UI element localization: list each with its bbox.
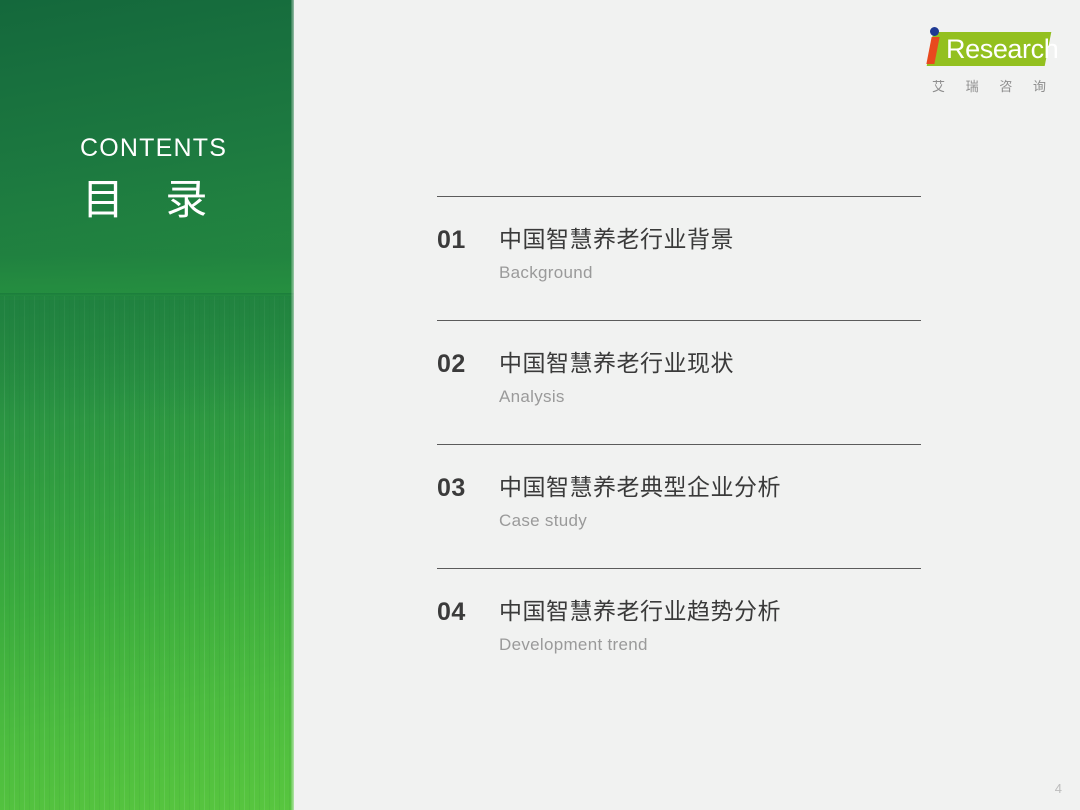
toc-number-02: 02 <box>437 349 499 379</box>
toc-title-english-03: Case study <box>499 510 921 532</box>
slide-root: CONTENTS 目 录 Research 艾 瑞 咨 询 01 中国智慧养老行… <box>0 0 1080 810</box>
left-green-panel: CONTENTS 目 录 <box>0 0 294 810</box>
logo-i-dot-icon <box>930 27 939 36</box>
toc-title-chinese-04: 中国智慧养老行业趋势分析 <box>499 597 921 628</box>
toc-text-block-01: 中国智慧养老行业背景 Background <box>499 225 921 284</box>
page-number: 4 <box>1055 781 1062 796</box>
logo-mark: Research <box>924 26 1052 72</box>
toc-title-english-04: Development trend <box>499 634 921 656</box>
toc-text-block-04: 中国智慧养老行业趋势分析 Development trend <box>499 597 921 656</box>
logo-cn-char-4: 询 <box>1033 76 1046 95</box>
logo-cn-char-3: 咨 <box>999 76 1012 95</box>
toc-text-block-02: 中国智慧养老行业现状 Analysis <box>499 349 921 408</box>
toc-text-block-03: 中国智慧养老典型企业分析 Case study <box>499 473 921 532</box>
toc-item-02[interactable]: 02 中国智慧养老行业现状 Analysis <box>437 320 921 444</box>
contents-title-chinese: 目 录 <box>82 179 227 221</box>
toc-item-01[interactable]: 01 中国智慧养老行业背景 Background <box>437 196 921 320</box>
panel-bottom-fade-overlay <box>0 296 294 416</box>
toc-number-04: 04 <box>437 597 499 627</box>
toc-item-03[interactable]: 03 中国智慧养老典型企业分析 Case study <box>437 444 921 568</box>
toc-number-01: 01 <box>437 225 499 255</box>
logo-cn-char-2: 瑞 <box>966 76 979 95</box>
table-of-contents: 01 中国智慧养老行业背景 Background 02 中国智慧养老行业现状 A… <box>437 196 921 672</box>
logo-cn-char-1: 艾 <box>932 76 945 95</box>
iresearch-logo: Research 艾 瑞 咨 询 <box>924 26 1052 95</box>
toc-title-english-01: Background <box>499 262 921 284</box>
toc-number-03: 03 <box>437 473 499 503</box>
toc-title-chinese-01: 中国智慧养老行业背景 <box>499 225 921 256</box>
contents-title-english: CONTENTS <box>80 136 227 161</box>
contents-title-block: CONTENTS 目 录 <box>80 136 227 221</box>
toc-title-english-02: Analysis <box>499 386 921 408</box>
logo-wordmark: Research <box>946 33 1058 65</box>
toc-item-04[interactable]: 04 中国智慧养老行业趋势分析 Development trend <box>437 568 921 672</box>
toc-title-chinese-03: 中国智慧养老典型企业分析 <box>499 473 921 504</box>
panel-right-edge <box>291 0 294 810</box>
logo-chinese-name: 艾 瑞 咨 询 <box>924 76 1052 95</box>
toc-title-chinese-02: 中国智慧养老行业现状 <box>499 349 921 380</box>
